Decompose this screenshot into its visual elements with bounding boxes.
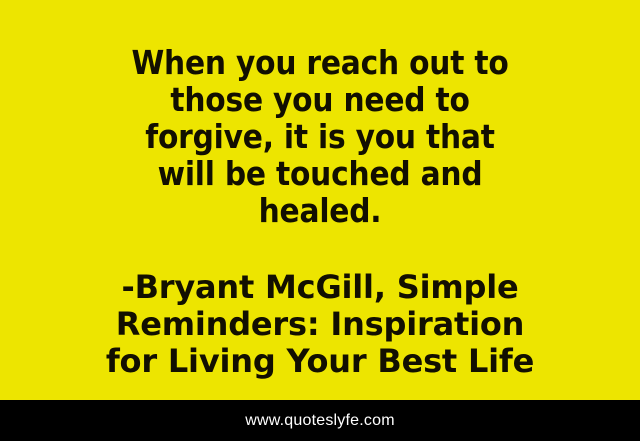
quote-text: When you reach out to those you need to … <box>18 44 622 229</box>
quote-line: When you reach out to <box>18 44 622 81</box>
quote-line: those you need to <box>18 81 622 118</box>
website-url[interactable]: www.quoteslyfe.com <box>245 412 394 430</box>
quote-line: will be touched and <box>18 155 622 192</box>
quote-attribution: -Bryant McGill, Simple Reminders: Inspir… <box>18 269 622 380</box>
attribution-line: -Bryant McGill, Simple <box>18 269 622 306</box>
attribution-line: for Living Your Best Life <box>18 343 622 380</box>
quote-line: forgive, it is you that <box>18 118 622 155</box>
attribution-line: Reminders: Inspiration <box>18 306 622 343</box>
footer-bar: www.quoteslyfe.com <box>0 400 640 441</box>
quote-content-area: When you reach out to those you need to … <box>0 0 640 400</box>
quote-line: healed. <box>18 192 622 229</box>
quote-card: When you reach out to those you need to … <box>0 0 640 441</box>
